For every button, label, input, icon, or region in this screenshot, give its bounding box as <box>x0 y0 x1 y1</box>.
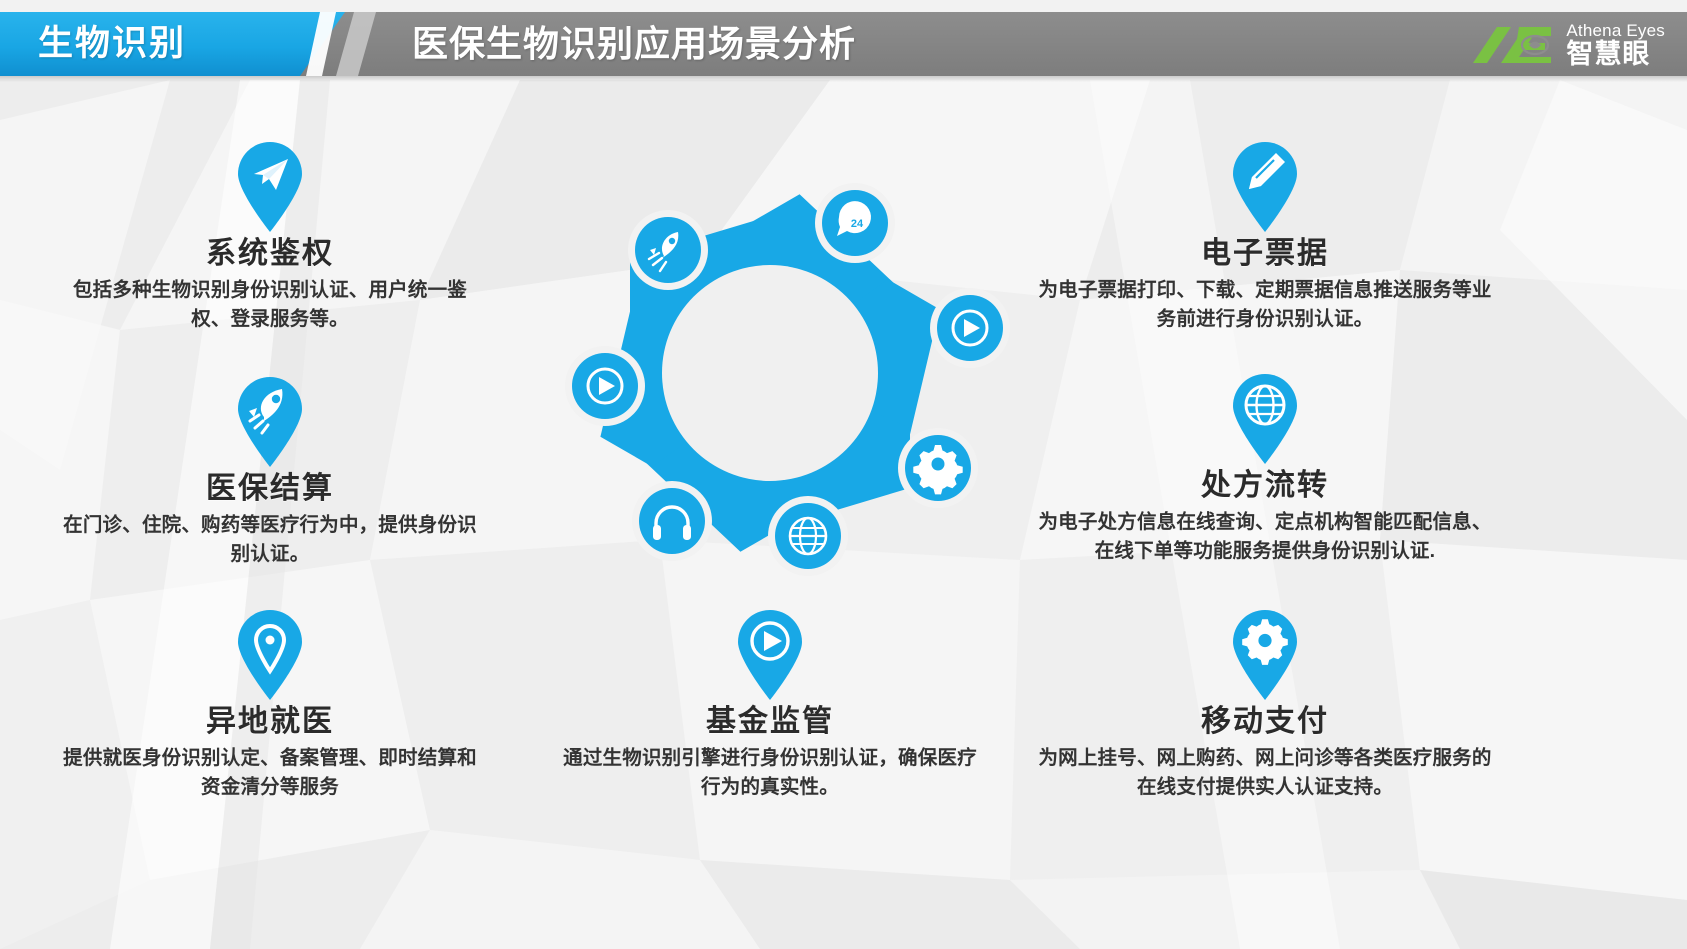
slide-canvas: 生物识别 医保生物识别应用场景分析 Athena Eyes 智慧眼 <box>0 0 1687 949</box>
pin-marker <box>234 608 306 700</box>
hexagon-pinwheel-diagram: 24 <box>520 128 1020 598</box>
logo-text-en: Athena Eyes <box>1566 22 1665 39</box>
feature-card-prescription-flow: 处方流转 为电子处方信息在线查询、定点机构智能匹配信息、在线下单等功能服务提供身… <box>1035 372 1495 566</box>
feature-title: 系统鉴权 <box>55 234 485 274</box>
feature-description: 通过生物识别引擎进行身份识别认证，确保医疗行为的真实性。 <box>555 744 985 802</box>
play-circle-icon <box>734 608 806 700</box>
feature-description: 为电子处方信息在线查询、定点机构智能匹配信息、在线下单等功能服务提供身份识别认证… <box>1035 508 1495 566</box>
header-shadow <box>0 76 1687 82</box>
feature-description: 在门诊、住院、购药等医疗行为中，提供身份识别认证。 <box>55 511 485 569</box>
feature-description: 为电子票据打印、下载、定期票据信息推送服务等业务前进行身份识别认证。 <box>1035 276 1495 334</box>
gear-icon <box>1229 608 1301 700</box>
feature-card-remote-treatment: 异地就医 提供就医身份识别认定、备案管理、即时结算和资金清分等服务 <box>55 608 485 802</box>
feature-title: 异地就医 <box>55 702 485 742</box>
feature-title: 医保结算 <box>55 469 485 509</box>
feature-title: 移动支付 <box>1035 702 1495 742</box>
pin-marker <box>234 140 306 232</box>
feature-card-medical-settlement: 医保结算 在门诊、住院、购药等医疗行为中，提供身份识别认证。 <box>55 375 485 569</box>
pin-marker <box>234 375 306 467</box>
brand-logo: Athena Eyes 智慧眼 <box>1471 18 1665 72</box>
feature-card-fund-supervision: 基金监管 通过生物识别引擎进行身份识别认证，确保医疗行为的真实性。 <box>555 608 985 802</box>
ae-monogram-icon <box>1471 23 1557 67</box>
badge-24-label: 24 <box>851 218 864 230</box>
logo-text-block: Athena Eyes 智慧眼 <box>1566 22 1665 68</box>
page-title: 医保生物识别应用场景分析 <box>412 17 856 71</box>
pin-marker <box>1229 608 1301 700</box>
feature-card-system-auth: 系统鉴权 包括多种生物识别身份识别认证、用户统一鉴权、登录服务等。 <box>55 140 485 334</box>
header-tag-label: 生物识别 <box>38 18 186 70</box>
slide-header: 生物识别 医保生物识别应用场景分析 Athena Eyes 智慧眼 <box>0 0 1687 88</box>
paper-plane-icon <box>234 140 306 232</box>
feature-description: 为网上挂号、网上购药、网上问诊等各类医疗服务的在线支付提供实人认证支持。 <box>1035 744 1495 802</box>
location-pin-icon <box>234 608 306 700</box>
rocket-icon <box>234 375 306 467</box>
pin-marker <box>1229 140 1301 232</box>
pencil-icon <box>1229 140 1301 232</box>
feature-description: 包括多种生物识别身份识别认证、用户统一鉴权、登录服务等。 <box>55 276 485 334</box>
pin-marker <box>734 608 806 700</box>
feature-title: 基金监管 <box>555 702 985 742</box>
feature-title: 电子票据 <box>1035 234 1495 274</box>
logo-text-cn: 智慧眼 <box>1566 41 1665 68</box>
globe-icon <box>1229 372 1301 464</box>
feature-title: 处方流转 <box>1035 466 1495 506</box>
feature-card-mobile-payment: 移动支付 为网上挂号、网上购药、网上问诊等各类医疗服务的在线支付提供实人认证支持… <box>1035 608 1495 802</box>
feature-description: 提供就医身份识别认定、备案管理、即时结算和资金清分等服务 <box>55 744 485 802</box>
feature-card-e-invoice: 电子票据 为电子票据打印、下载、定期票据信息推送服务等业务前进行身份识别认证。 <box>1035 140 1495 334</box>
pin-marker <box>1229 372 1301 464</box>
